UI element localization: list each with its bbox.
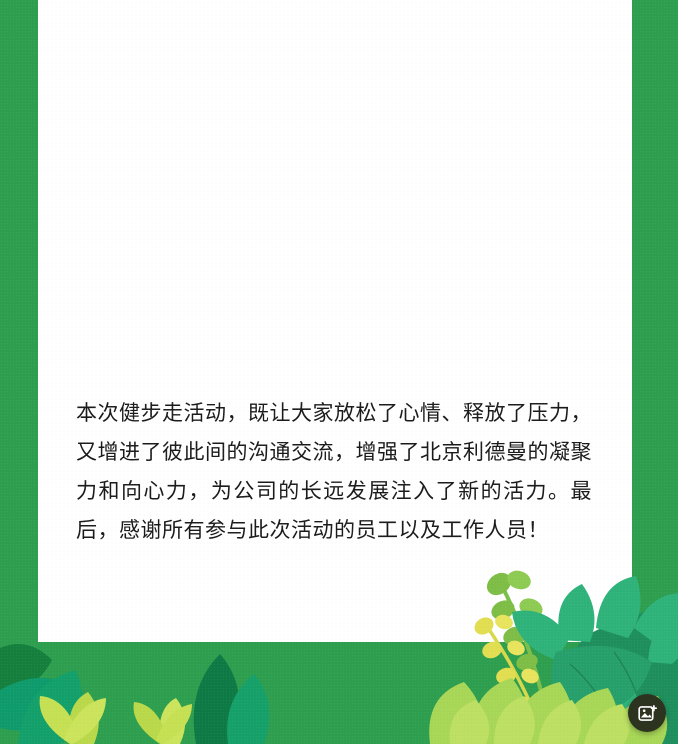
foliage-left [0, 644, 192, 744]
add-image-icon [637, 703, 658, 724]
foliage-center-left [194, 654, 269, 744]
add-image-button[interactable] [628, 694, 666, 732]
page-root: 利德曼 LEADMAN 北京利德曼生化股份有限公司 BEIJING LEADMA… [0, 0, 678, 744]
article-body: 本次健步走活动，既让大家放松了心情、释放了压力，又增进了彼此间的沟通交流，增强了… [76, 394, 592, 550]
